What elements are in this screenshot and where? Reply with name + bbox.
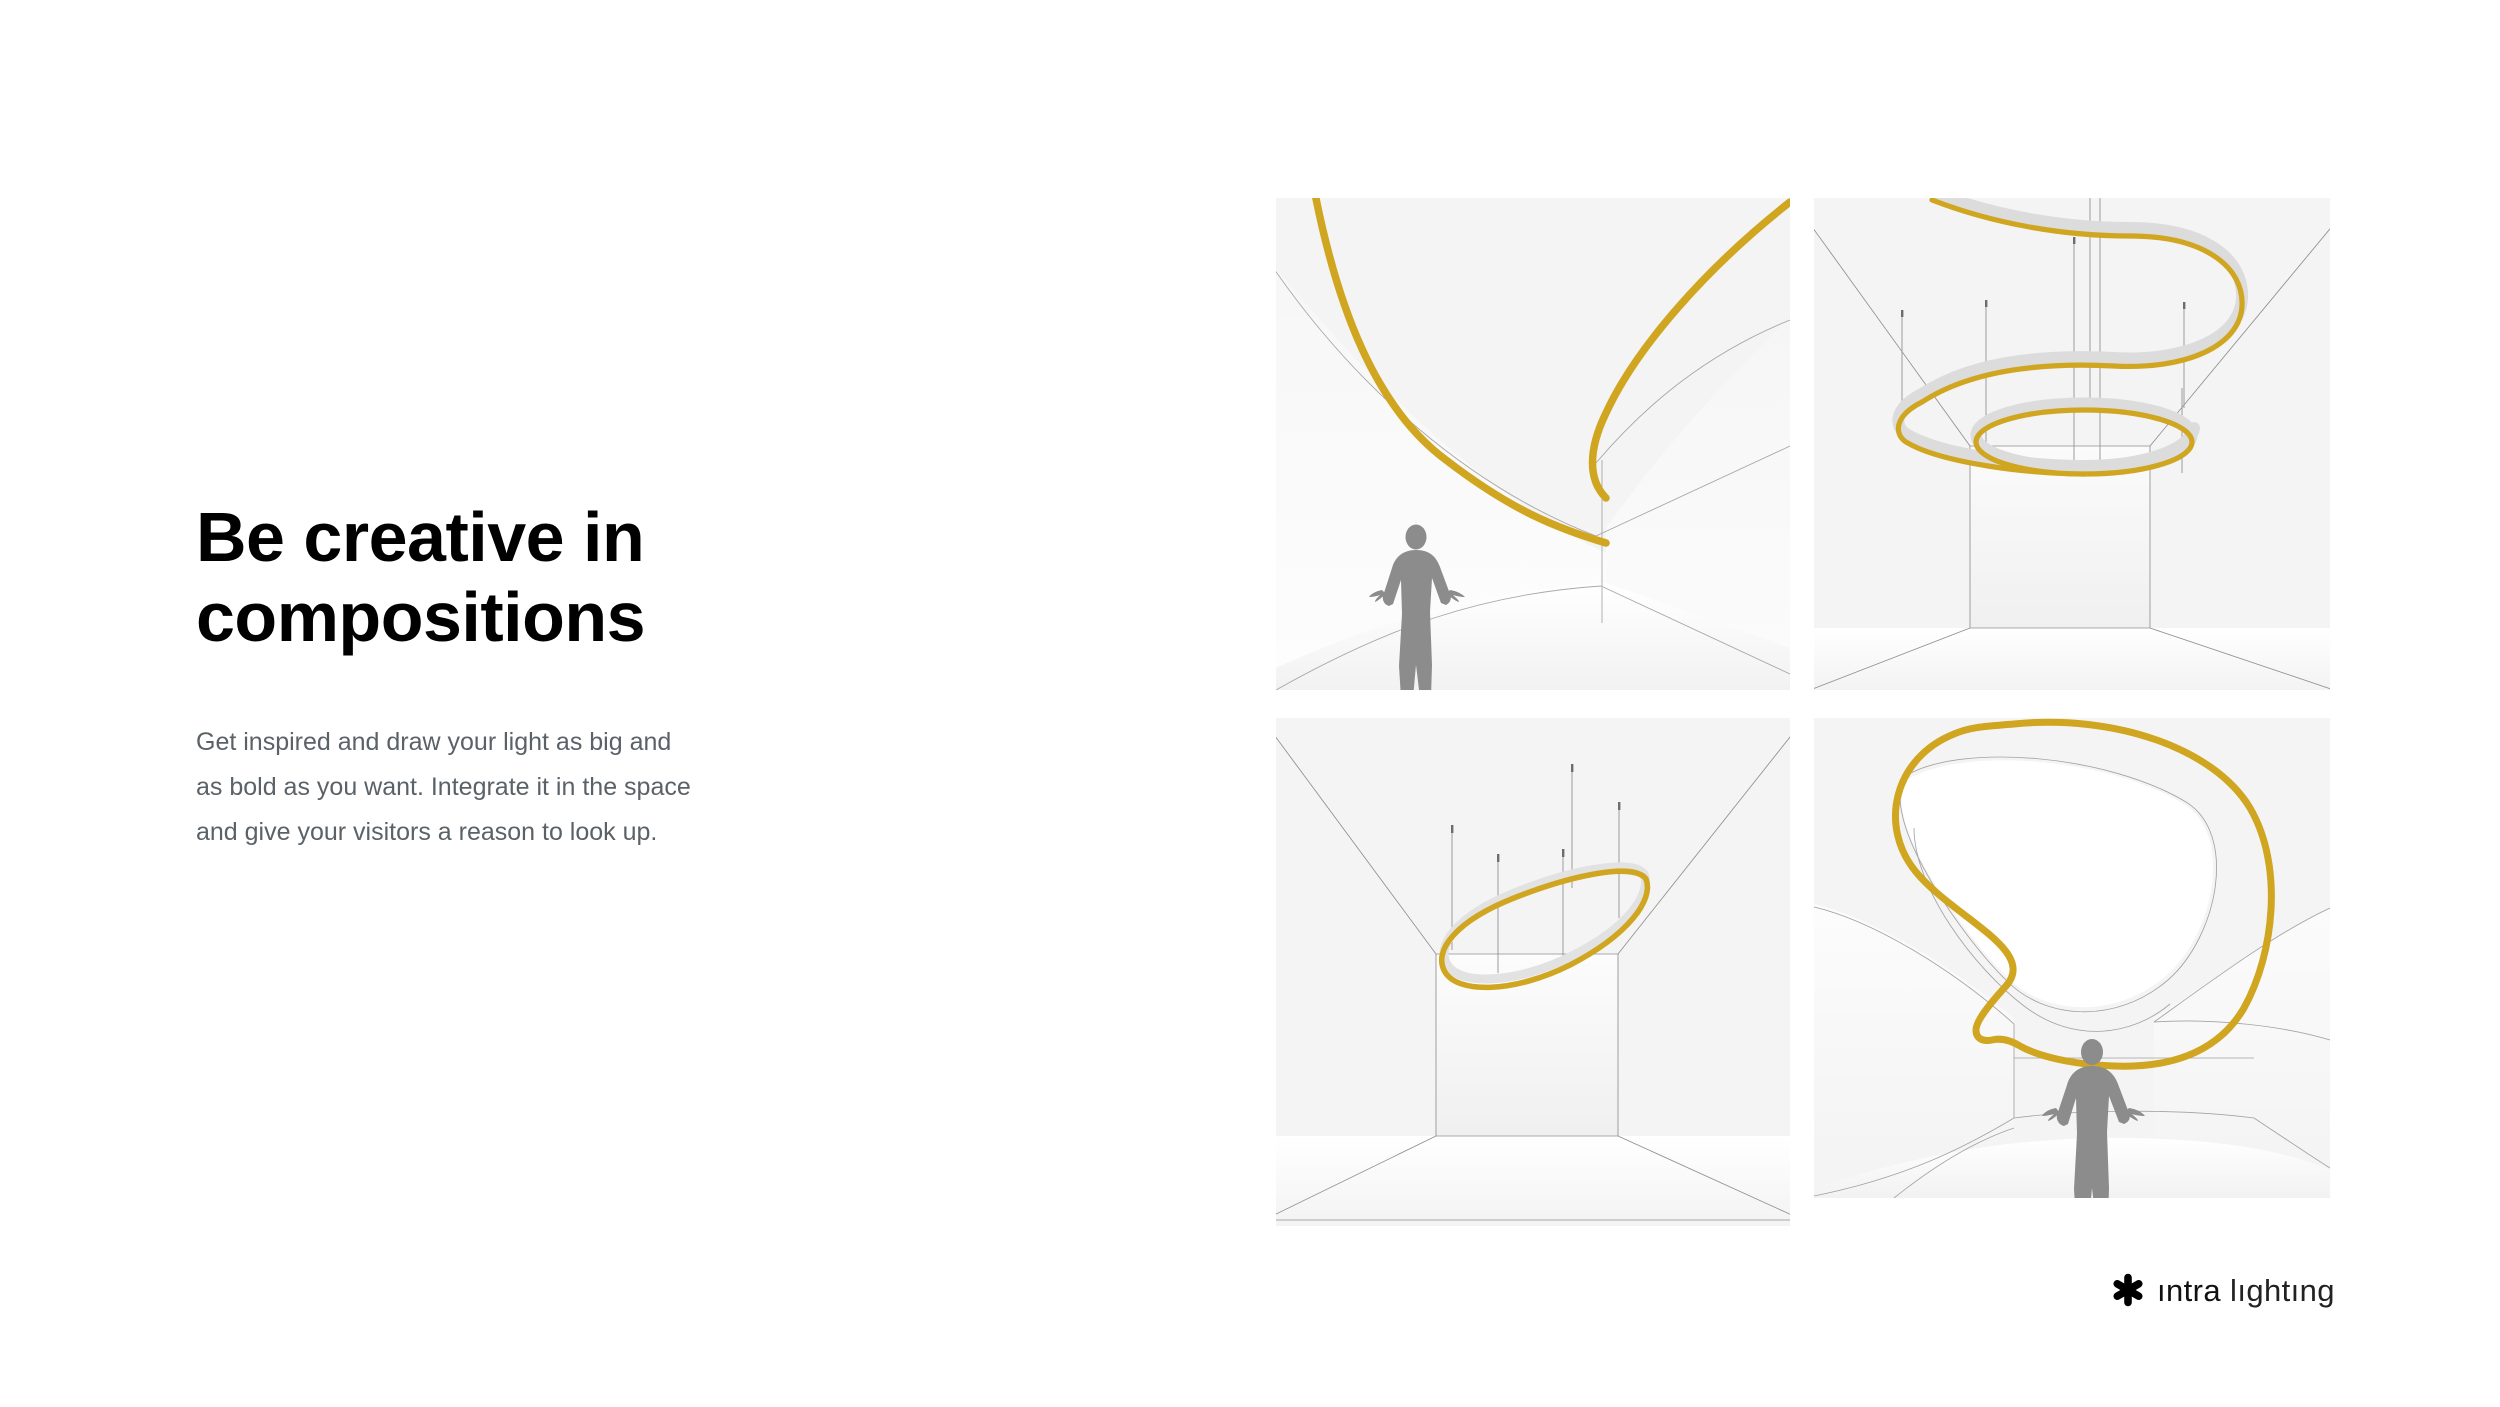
- descending-spiral-illustration: [1814, 198, 2330, 690]
- gallery-panel-sweeping-light-line[interactable]: [1276, 198, 1790, 690]
- text-column: Be creative in compositions Get inspired…: [196, 498, 756, 855]
- gallery-panel-freeform-loop[interactable]: [1814, 718, 2330, 1198]
- page-title: Be creative in compositions: [196, 498, 756, 658]
- sweeping-light-line-illustration: [1276, 198, 1790, 690]
- slide-root: Be creative in compositions Get inspired…: [0, 0, 2500, 1407]
- body-paragraph: Get inspired and draw your light as big …: [196, 720, 696, 855]
- logo-wordmark: ıntra lıghtıng: [2157, 1275, 2335, 1306]
- image-gallery-grid: [1276, 198, 2330, 1226]
- logo-brand-name: ıntra: [2157, 1273, 2221, 1308]
- freeform-loop-illustration: [1814, 718, 2330, 1198]
- tilted-ring-illustration: [1276, 718, 1790, 1226]
- gallery-panel-descending-spiral[interactable]: [1814, 198, 2330, 690]
- brand-logo: ıntra lıghtıng: [2112, 1268, 2335, 1312]
- asterisk-icon: [2112, 1273, 2144, 1307]
- gallery-panel-tilted-ring[interactable]: [1276, 718, 1790, 1226]
- logo-product-name: lıghtıng: [2230, 1273, 2335, 1308]
